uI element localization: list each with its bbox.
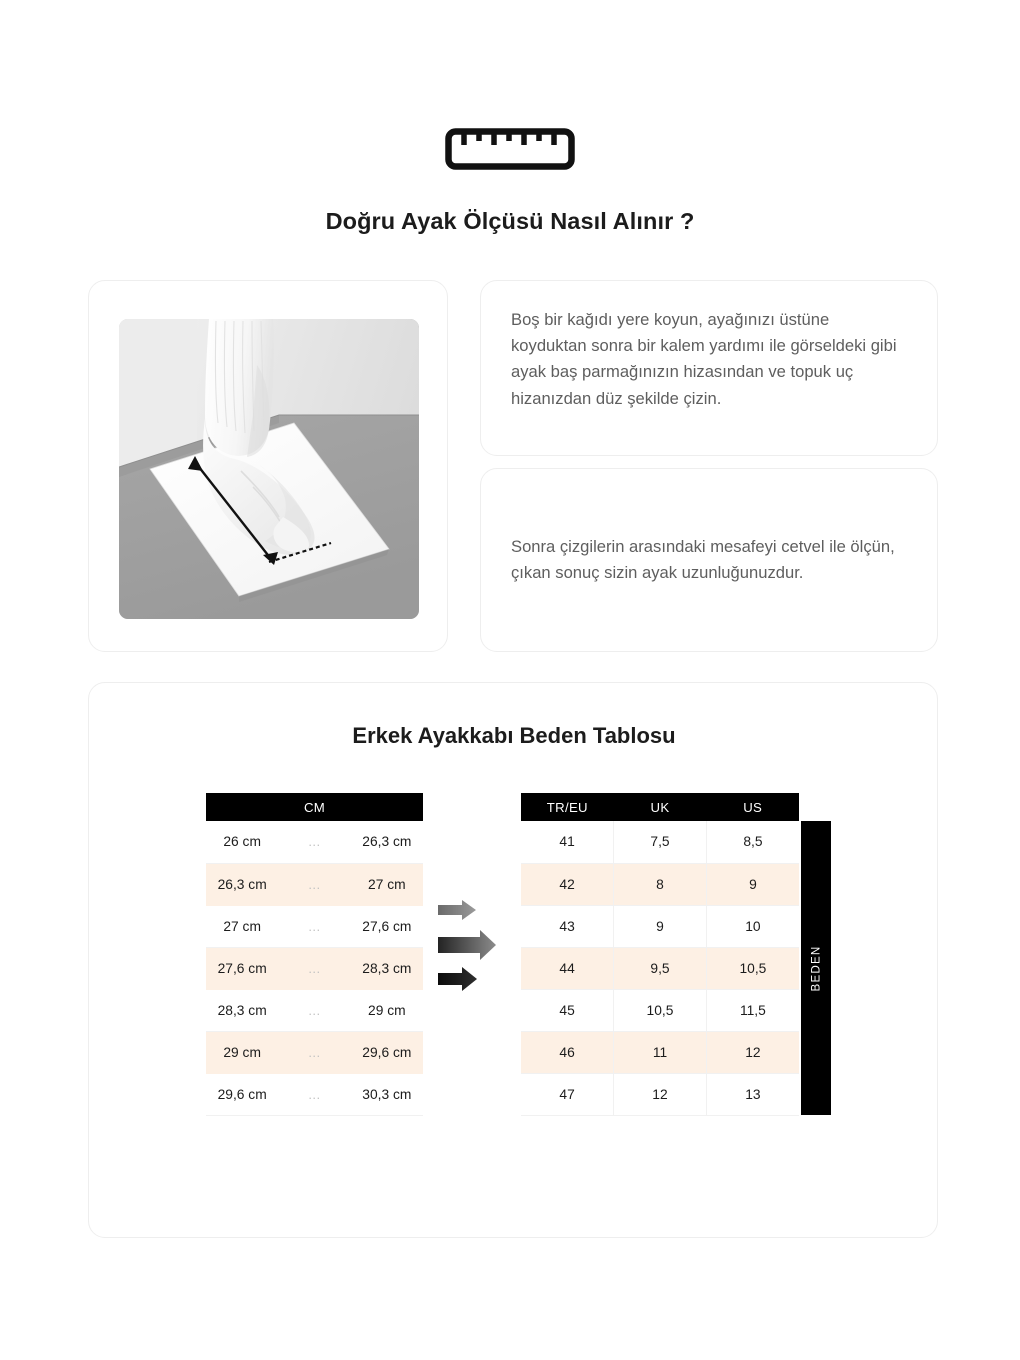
beden-label: BEDEN bbox=[810, 945, 823, 991]
table-row: 26,3 cm ... 27 cm bbox=[206, 863, 423, 905]
size-table-body: 41 7,5 8,5 42 8 9 43 9 10 bbox=[521, 821, 799, 1115]
cm-from: 29,6 cm bbox=[206, 1073, 278, 1115]
cm-separator: ... bbox=[278, 905, 350, 947]
cm-table-body: 26 cm ... 26,3 cm 26,3 cm ... 27 cm 27 c… bbox=[206, 821, 423, 1115]
cell-us: 10 bbox=[706, 905, 799, 947]
cell-us: 13 bbox=[706, 1073, 799, 1115]
column-header-tr-eu: TR/EU bbox=[521, 793, 614, 821]
cm-from: 28,3 cm bbox=[206, 989, 278, 1031]
cm-separator: ... bbox=[278, 863, 350, 905]
table-row: 28,3 cm ... 29 cm bbox=[206, 989, 423, 1031]
conversion-arrows-icon bbox=[436, 899, 498, 991]
foot-measure-photo bbox=[119, 319, 419, 619]
cm-separator: ... bbox=[278, 1031, 350, 1073]
cm-to: 30,3 cm bbox=[351, 1073, 423, 1115]
table-row: 44 9,5 10,5 bbox=[521, 947, 799, 989]
cm-to: 29,6 cm bbox=[351, 1031, 423, 1073]
size-conversion-table: TR/EU UK US 41 7,5 8,5 42 8 9 bbox=[521, 793, 799, 1116]
cm-header-cell: CM bbox=[206, 793, 423, 821]
cm-to: 29 cm bbox=[351, 989, 423, 1031]
cell-us: 9 bbox=[706, 863, 799, 905]
cm-table-header-row: CM bbox=[206, 793, 423, 821]
beden-side-bar: BEDEN bbox=[801, 821, 831, 1115]
cell-us: 8,5 bbox=[706, 821, 799, 863]
size-guide-page: Doğru Ayak Ölçüsü Nasıl Alınır ? bbox=[0, 0, 1020, 1360]
cell-tr-eu: 47 bbox=[521, 1073, 614, 1115]
table-row: 27,6 cm ... 28,3 cm bbox=[206, 947, 423, 989]
table-row: 41 7,5 8,5 bbox=[521, 821, 799, 863]
cell-tr-eu: 45 bbox=[521, 989, 614, 1031]
cell-uk: 12 bbox=[614, 1073, 707, 1115]
instruction-card-1: Boş bir kağıdı yere koyun, ayağınızı üst… bbox=[480, 280, 938, 456]
table-row: 47 12 13 bbox=[521, 1073, 799, 1115]
cell-tr-eu: 43 bbox=[521, 905, 614, 947]
instruction-text-2: Sonra çizgilerin arasındaki mesafeyi cet… bbox=[511, 534, 907, 586]
cm-from: 29 cm bbox=[206, 1031, 278, 1073]
size-table-title: Erkek Ayakkabı Beden Tablosu bbox=[89, 723, 939, 749]
table-row: 42 8 9 bbox=[521, 863, 799, 905]
column-header-uk: UK bbox=[614, 793, 707, 821]
cell-uk: 7,5 bbox=[614, 821, 707, 863]
page-header: Doğru Ayak Ölçüsü Nasıl Alınır ? bbox=[0, 128, 1020, 235]
cell-uk: 8 bbox=[614, 863, 707, 905]
cm-to: 27 cm bbox=[351, 863, 423, 905]
table-row: 29 cm ... 29,6 cm bbox=[206, 1031, 423, 1073]
size-table-header-row: TR/EU UK US bbox=[521, 793, 799, 821]
instructions-section: Boş bir kağıdı yere koyun, ayağınızı üst… bbox=[88, 280, 938, 652]
cm-to: 27,6 cm bbox=[351, 905, 423, 947]
cell-tr-eu: 46 bbox=[521, 1031, 614, 1073]
cm-to: 26,3 cm bbox=[351, 821, 423, 863]
cm-from: 27 cm bbox=[206, 905, 278, 947]
table-row: 29,6 cm ... 30,3 cm bbox=[206, 1073, 423, 1115]
cell-uk: 9 bbox=[614, 905, 707, 947]
tables-wrapper: CM 26 cm ... 26,3 cm 26,3 cm ... 27 cm bbox=[89, 793, 939, 1119]
cm-separator: ... bbox=[278, 989, 350, 1031]
cm-from: 27,6 cm bbox=[206, 947, 278, 989]
cell-tr-eu: 42 bbox=[521, 863, 614, 905]
cm-table: CM 26 cm ... 26,3 cm 26,3 cm ... 27 cm bbox=[206, 793, 423, 1116]
cell-uk: 10,5 bbox=[614, 989, 707, 1031]
instruction-card-2: Sonra çizgilerin arasındaki mesafeyi cet… bbox=[480, 468, 938, 652]
cell-uk: 9,5 bbox=[614, 947, 707, 989]
cm-from: 26,3 cm bbox=[206, 863, 278, 905]
table-row: 27 cm ... 27,6 cm bbox=[206, 905, 423, 947]
cm-separator: ... bbox=[278, 947, 350, 989]
foot-on-paper-illustration bbox=[119, 319, 419, 619]
table-row: 43 9 10 bbox=[521, 905, 799, 947]
table-row: 46 11 12 bbox=[521, 1031, 799, 1073]
cell-uk: 11 bbox=[614, 1031, 707, 1073]
table-row: 26 cm ... 26,3 cm bbox=[206, 821, 423, 863]
cell-tr-eu: 41 bbox=[521, 821, 614, 863]
ruler-icon bbox=[445, 128, 575, 170]
cm-separator: ... bbox=[278, 821, 350, 863]
size-table-card: Erkek Ayakkabı Beden Tablosu CM 26 cm ..… bbox=[88, 682, 938, 1238]
cm-to: 28,3 cm bbox=[351, 947, 423, 989]
table-row: 45 10,5 11,5 bbox=[521, 989, 799, 1031]
column-header-us: US bbox=[706, 793, 799, 821]
cell-us: 11,5 bbox=[706, 989, 799, 1031]
instruction-text-1: Boş bir kağıdı yere koyun, ayağınızı üst… bbox=[511, 307, 907, 412]
page-title: Doğru Ayak Ölçüsü Nasıl Alınır ? bbox=[0, 208, 1020, 235]
photo-card bbox=[88, 280, 448, 652]
cell-tr-eu: 44 bbox=[521, 947, 614, 989]
cm-from: 26 cm bbox=[206, 821, 278, 863]
cell-us: 10,5 bbox=[706, 947, 799, 989]
cm-separator: ... bbox=[278, 1073, 350, 1115]
cell-us: 12 bbox=[706, 1031, 799, 1073]
